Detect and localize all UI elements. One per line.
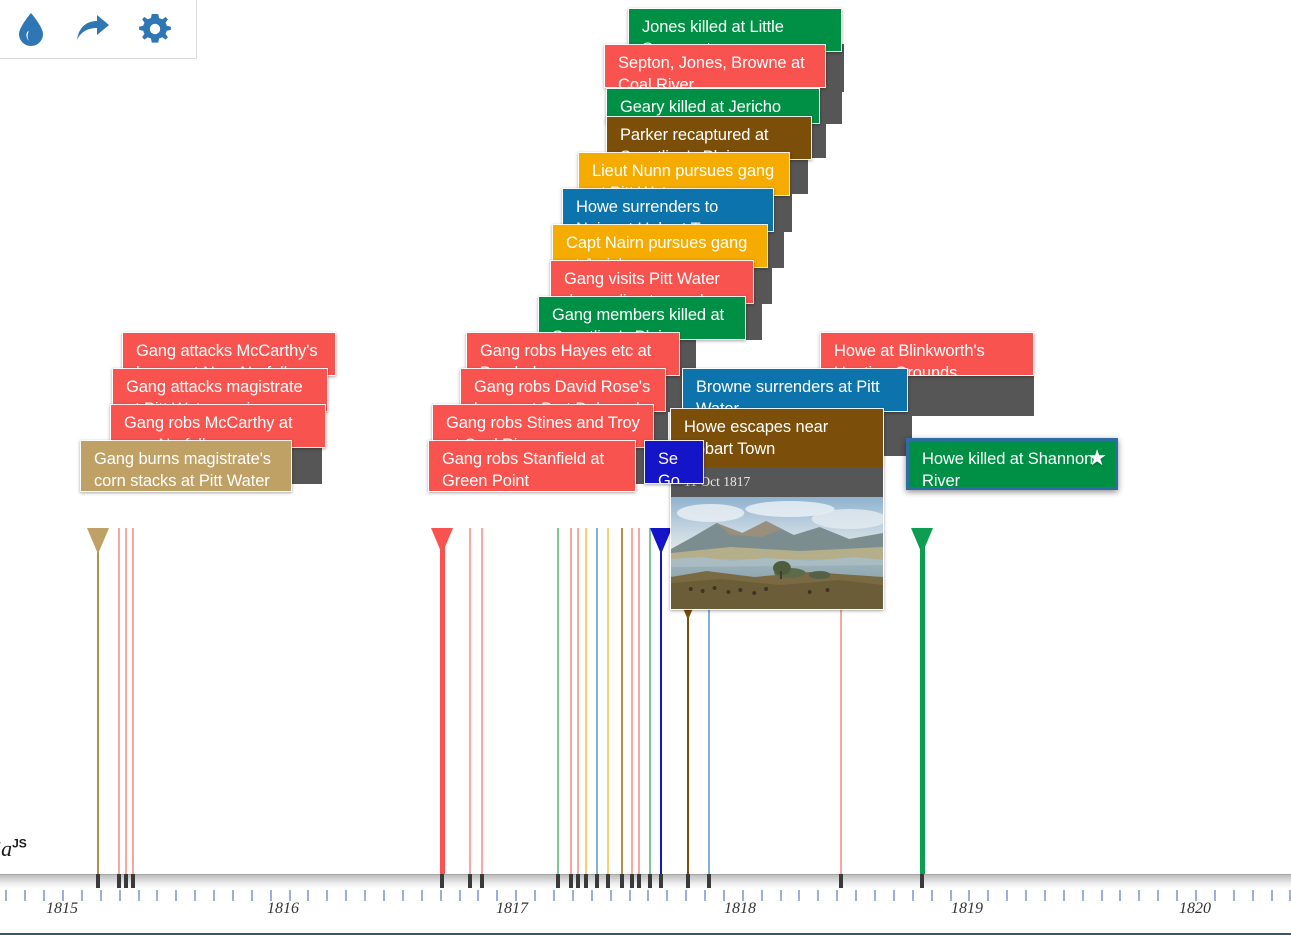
axis-minor-tick xyxy=(798,890,800,901)
axis-minor-tick xyxy=(1138,890,1140,901)
axis-year-label: 1815 xyxy=(46,900,78,918)
axis-year-label: 1817 xyxy=(496,900,528,918)
axis-minor-tick xyxy=(572,890,574,901)
event-card-title: Howe killed at Shannon River xyxy=(909,441,1115,490)
axis-minor-tick xyxy=(43,890,45,901)
axis-minor-tick xyxy=(175,890,177,901)
axis-minor-tick xyxy=(213,890,215,901)
axis-minor-tick xyxy=(912,890,914,901)
axis-minor-tick xyxy=(1271,890,1273,901)
event-thumbnail-image xyxy=(671,497,883,609)
axis-minor-tick xyxy=(591,890,593,901)
axis-minor-tick xyxy=(251,890,253,901)
axis-event-marker[interactable] xyxy=(595,874,599,888)
axis-minor-tick xyxy=(931,890,933,901)
event-card[interactable]: Se Go28 A xyxy=(644,440,704,484)
event-stem xyxy=(920,530,925,874)
event-pointer xyxy=(911,528,933,554)
axis-minor-tick xyxy=(156,890,158,901)
event-stem xyxy=(132,528,134,874)
axis-event-marker[interactable] xyxy=(556,874,560,888)
watermark-suffix: JS xyxy=(12,837,27,851)
axis-minor-tick xyxy=(553,890,555,901)
axis-event-marker[interactable] xyxy=(839,874,843,888)
axis-event-marker[interactable] xyxy=(96,874,100,888)
axis-event-marker[interactable] xyxy=(707,874,711,888)
axis-minor-tick xyxy=(1082,890,1084,901)
event-stem xyxy=(607,528,609,874)
axis-minor-tick xyxy=(629,890,631,901)
axis-event-marker[interactable] xyxy=(576,874,580,888)
axis-event-marker[interactable] xyxy=(606,874,610,888)
star-icon[interactable]: ★ xyxy=(1087,447,1107,469)
event-card-title: Se Go xyxy=(645,441,703,484)
axis-minor-tick xyxy=(81,890,83,901)
event-card[interactable]: Septon, Jones, Browne at Coal River xyxy=(604,44,826,88)
gear-icon[interactable] xyxy=(124,1,186,57)
axis-event-marker[interactable] xyxy=(584,874,588,888)
event-stem xyxy=(577,528,579,874)
event-stem xyxy=(708,596,710,874)
axis-event-marker[interactable] xyxy=(468,874,472,888)
axis-minor-tick xyxy=(780,890,782,901)
axis-minor-tick xyxy=(194,890,196,901)
watermark-text: dia xyxy=(0,836,12,861)
event-card[interactable]: Gang robs Stanfield at Green Point14 Sep… xyxy=(428,440,636,492)
event-card-title: Septon, Jones, Browne at Coal River xyxy=(605,45,825,88)
axis-minor-tick xyxy=(119,890,121,901)
axis-minor-tick xyxy=(383,890,385,901)
axis-minor-tick xyxy=(24,890,26,901)
event-pointer xyxy=(431,528,453,554)
event-stem xyxy=(621,528,623,874)
axis-minor-tick xyxy=(440,890,442,901)
axis-year-label: 1820 xyxy=(1179,900,1211,918)
event-stem xyxy=(660,530,662,874)
event-stem xyxy=(481,528,483,874)
toolbar xyxy=(0,0,197,59)
axis-event-marker[interactable] xyxy=(686,874,690,888)
axis-minor-tick xyxy=(704,890,706,901)
event-card-title: Gang burns magistrate's corn stacks at P… xyxy=(81,441,291,492)
axis-minor-tick xyxy=(1063,890,1065,901)
event-card-title: Gang robs Stanfield at Green Point xyxy=(429,441,635,492)
axis-minor-tick xyxy=(1006,890,1008,901)
axis-minor-tick xyxy=(138,890,140,901)
axis-minor-tick xyxy=(5,890,7,901)
axis-minor-tick xyxy=(534,890,536,901)
axis-minor-tick xyxy=(1157,890,1159,901)
event-card[interactable]: Howe killed at Shannon River★21 Oct 1818 xyxy=(906,438,1118,490)
axis-minor-tick xyxy=(1252,890,1254,901)
event-stem xyxy=(638,528,640,874)
event-stem xyxy=(631,528,633,874)
timeline-canvas[interactable]: diaJS Jones killed at Little SwanportSep… xyxy=(0,0,1291,935)
axis-event-marker[interactable] xyxy=(648,874,652,888)
event-stem xyxy=(125,528,127,874)
axis-minor-tick xyxy=(232,890,234,901)
axis-event-marker[interactable] xyxy=(630,874,634,888)
axis-minor-tick xyxy=(666,890,668,901)
axis-minor-tick xyxy=(364,890,366,901)
axis-minor-tick xyxy=(100,890,102,901)
axis-event-marker[interactable] xyxy=(637,874,641,888)
axis-minor-tick xyxy=(477,890,479,901)
timeline-axis-band[interactable] xyxy=(0,874,1291,888)
axis-minor-tick xyxy=(1044,890,1046,901)
axis-minor-tick xyxy=(345,890,347,901)
axis-year-label: 1819 xyxy=(951,900,983,918)
axis-minor-tick xyxy=(893,890,895,901)
axis-minor-tick xyxy=(987,890,989,901)
axis-event-marker[interactable] xyxy=(124,874,128,888)
share-icon[interactable] xyxy=(62,1,124,57)
axis-year-label: 1818 xyxy=(724,900,756,918)
droplet-icon[interactable] xyxy=(0,1,62,57)
event-stem xyxy=(570,528,572,874)
axis-minor-tick xyxy=(836,890,838,901)
event-card-title: Browne surrenders at Pitt Water xyxy=(683,369,907,412)
event-stem xyxy=(469,528,471,874)
event-stem xyxy=(649,528,651,874)
axis-event-marker[interactable] xyxy=(440,874,444,888)
event-card-image xyxy=(671,497,883,609)
axis-event-marker[interactable] xyxy=(131,874,135,888)
axis-minor-tick xyxy=(761,890,763,901)
axis-minor-tick xyxy=(326,890,328,901)
axis-minor-tick xyxy=(1025,890,1027,901)
event-pointer xyxy=(650,528,672,554)
event-stem xyxy=(97,530,99,874)
event-card[interactable]: Browne surrenders at Pitt Water xyxy=(682,368,908,412)
event-stem xyxy=(687,596,689,874)
axis-minor-tick xyxy=(459,890,461,901)
axis-minor-tick xyxy=(1176,890,1178,901)
axis-minor-tick xyxy=(421,890,423,901)
event-stem xyxy=(585,528,587,874)
axis-minor-tick xyxy=(647,890,649,901)
watermark-logo: diaJS xyxy=(0,836,27,862)
event-stem xyxy=(118,528,120,874)
axis-event-marker[interactable] xyxy=(920,874,924,888)
axis-minor-tick xyxy=(1101,890,1103,901)
axis-minor-tick xyxy=(685,890,687,901)
axis-year-label: 1816 xyxy=(267,900,299,918)
event-stem xyxy=(596,528,598,874)
axis-event-marker[interactable] xyxy=(620,874,624,888)
axis-minor-tick xyxy=(855,890,857,901)
axis-minor-tick xyxy=(610,890,612,901)
axis-event-marker[interactable] xyxy=(569,874,573,888)
event-stem xyxy=(557,528,559,874)
axis-event-marker[interactable] xyxy=(480,874,484,888)
axis-minor-tick xyxy=(307,890,309,901)
axis-minor-tick xyxy=(817,890,819,901)
event-pointer xyxy=(87,528,109,554)
event-stem xyxy=(440,530,445,874)
axis-minor-tick xyxy=(874,890,876,901)
axis-event-marker[interactable] xyxy=(659,874,663,888)
event-card[interactable]: Gang burns magistrate's corn stacks at P… xyxy=(80,440,292,492)
axis-minor-tick xyxy=(1119,890,1121,901)
axis-minor-tick xyxy=(402,890,404,901)
axis-minor-tick xyxy=(1214,890,1216,901)
axis-minor-tick xyxy=(1233,890,1235,901)
event-card[interactable]: Howe escapes near Hobart Town11 Oct 1817 xyxy=(670,408,884,610)
axis-event-marker[interactable] xyxy=(117,874,121,888)
